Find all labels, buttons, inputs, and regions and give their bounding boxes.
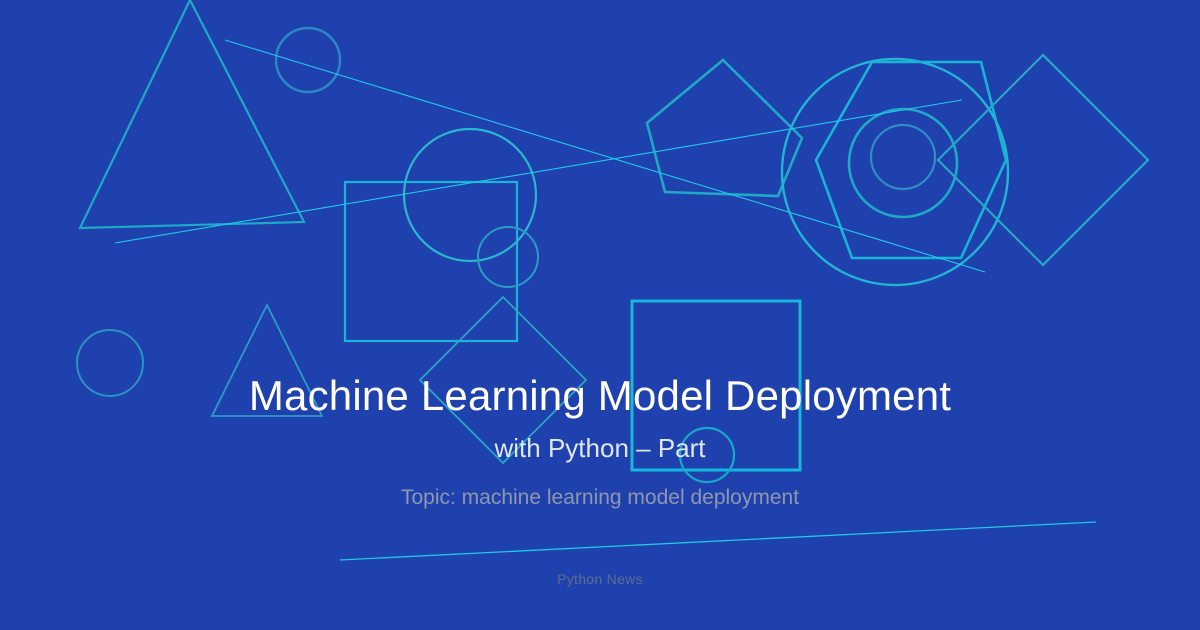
slide-content: Machine Learning Model Deployment with P… <box>0 0 1200 630</box>
slide-topic: Topic: machine learning model deployment <box>0 485 1200 510</box>
presentation-slide: Machine Learning Model Deployment with P… <box>0 0 1200 630</box>
slide-subtitle: with Python – Part <box>0 434 1200 463</box>
slide-footer-brand: Python News <box>0 571 1200 587</box>
slide-title: Machine Learning Model Deployment <box>0 374 1200 418</box>
